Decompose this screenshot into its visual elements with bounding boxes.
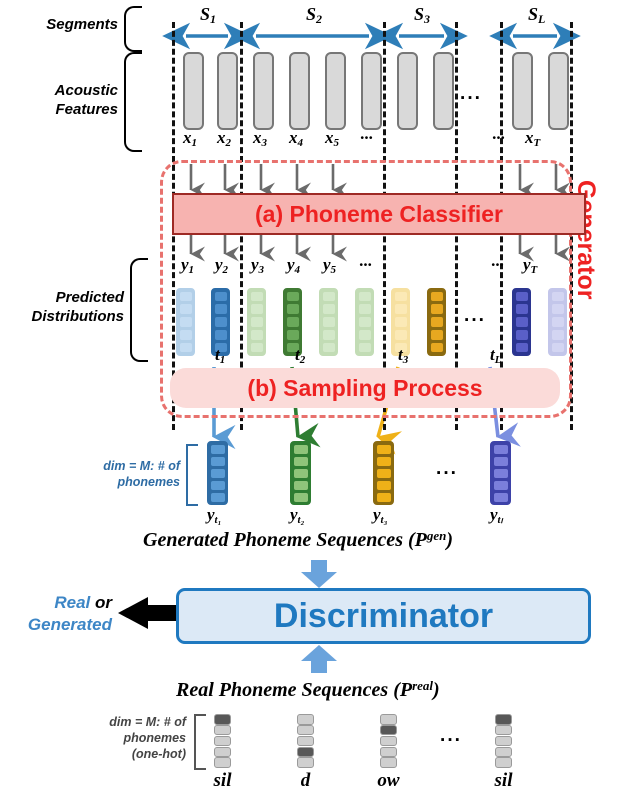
acoustic-feature-bar-8 <box>433 52 454 130</box>
dist-9-cell-1 <box>515 291 529 303</box>
acoustic-ellipsis: ··· <box>460 88 482 110</box>
dist-8-cell-2 <box>430 303 444 315</box>
acoustic-label-3-math: x3 <box>253 128 267 147</box>
generated-caption-end: ) <box>446 529 453 551</box>
acoustic-label-5-math: x5 <box>325 128 339 147</box>
acoustic-features-brace <box>124 52 142 152</box>
acoustic-label-6: ··· <box>360 128 373 148</box>
dist-6-cell-2 <box>358 303 372 315</box>
discriminator-output-arrow <box>118 597 176 629</box>
real-phoneme-label-2: d <box>279 770 332 792</box>
sampled-1-cell-3 <box>210 468 226 479</box>
real-onehot-2-cell-2 <box>297 725 313 735</box>
segments-brace <box>124 6 142 52</box>
acoustic-label-7: ··· <box>492 128 505 148</box>
real-onehot-3-cell-5 <box>380 757 396 767</box>
sampled-1-cell-4 <box>210 480 226 491</box>
gen-to-discriminator-arrow <box>301 560 337 588</box>
real-dim-line2: phonemes <box>40 730 186 746</box>
generated-phoneme-label-3: yt₃ <box>373 505 387 526</box>
dist-10-cell-3 <box>551 316 565 328</box>
t-label-4-math: tL <box>490 345 501 364</box>
dist-5-cell-5 <box>322 342 336 354</box>
generated-word: Generated <box>0 614 112 636</box>
dist-3 <box>247 288 266 356</box>
segment-label-2: S2 <box>306 4 322 27</box>
dist-10-cell-2 <box>551 303 565 315</box>
y-label-5: y5 <box>323 255 336 276</box>
dist-9-cell-5 <box>515 342 529 354</box>
acoustic-label-8-math: xT <box>525 128 540 147</box>
sampled-3-cell-5 <box>376 492 392 503</box>
sampled-2-cell-1 <box>293 444 309 455</box>
sampled-2-cell-3 <box>293 468 309 479</box>
acoustic-label-4-math-subscript: 4 <box>298 137 304 149</box>
generated-phoneme-label-2-math-subscript: t₂ <box>298 514 305 526</box>
y-label-4-math-subscript: 4 <box>295 264 301 276</box>
sampling-process-box[interactable]: (b) Sampling Process <box>170 368 560 408</box>
acoustic-label-1-math: x1 <box>183 128 197 147</box>
generated-phoneme-label-3-math: yt₃ <box>373 505 387 524</box>
dist-3-cell-3 <box>250 316 264 328</box>
sampled-1-cell-2 <box>210 456 226 467</box>
generated-phoneme-label-1-math-subscript: t₁ <box>215 514 222 526</box>
sampled-4-cell-4 <box>493 480 509 491</box>
generated-phoneme-label-4-math-subscript: tₗ <box>498 514 503 526</box>
dist-4-cell-3 <box>286 316 300 328</box>
y-label-8-math-subscript: T <box>531 264 538 276</box>
real-ellipsis: ··· <box>440 730 462 752</box>
segment-label-3-subscript: 3 <box>424 12 430 26</box>
dist-8-cell-5 <box>430 342 444 354</box>
sampled-1-cell-1 <box>210 444 226 455</box>
sampled-3-cell-2 <box>376 456 392 467</box>
real-onehot-3-cell-3 <box>380 736 396 746</box>
sampled-2-cell-4 <box>293 480 309 491</box>
real-caption-sup: real <box>412 678 433 693</box>
y-label-1-math-subscript: 1 <box>189 264 195 276</box>
generated-phoneme-label-4-math: ytₗ <box>490 505 502 524</box>
dist-7-cell-1 <box>394 291 408 303</box>
generated-phoneme-label-1-math: yt₁ <box>207 505 221 524</box>
acoustic-label-3: x3 <box>253 128 267 149</box>
acoustic-feature-bar-2 <box>217 52 238 130</box>
acoustic-feature-bar-5 <box>325 52 346 130</box>
dist-4-cell-1 <box>286 291 300 303</box>
generated-phoneme-label-3-math-subscript: t₃ <box>381 514 388 526</box>
y-label-5-math-subscript: 5 <box>331 264 337 276</box>
predicted-distributions-brace <box>130 258 148 362</box>
real-phoneme-label-3: ow <box>362 770 415 792</box>
t-label-2-math: t2 <box>295 345 305 364</box>
dist-2-cell-4 <box>214 329 228 341</box>
y-label-5-math: y5 <box>323 255 336 274</box>
y-label-1-math: y1 <box>181 255 194 274</box>
real-dim-line1: dim = M: # of <box>40 714 186 730</box>
acoustic-label-8: xT <box>525 128 540 149</box>
generated-phoneme-label-2: yt₂ <box>290 505 304 526</box>
acoustic-label-4-math: x4 <box>289 128 303 147</box>
dist-10-cell-4 <box>551 329 565 341</box>
real-dim-bracket <box>194 714 206 770</box>
y-label-3-math-subscript: 3 <box>259 264 265 276</box>
dist-1 <box>176 288 195 356</box>
acoustic-feature-bar-9 <box>512 52 533 130</box>
y-label-4-math: y4 <box>287 255 300 274</box>
dist-5-cell-3 <box>322 316 336 328</box>
y-label-4: y4 <box>287 255 300 276</box>
generated-phoneme-label-1: yt₁ <box>207 505 221 526</box>
acoustic-feature-bar-1 <box>183 52 204 130</box>
dist-6-cell-3 <box>358 316 372 328</box>
predicted-distributions-label: Predicted Distributions <box>0 288 124 326</box>
real-or-line1: Real or <box>0 592 112 614</box>
dist-4-cell-2 <box>286 303 300 315</box>
dist-9 <box>512 288 531 356</box>
dist-5-cell-2 <box>322 303 336 315</box>
real-onehot-3-cell-2 <box>380 725 396 735</box>
acoustic-label-6-math: ··· <box>360 128 373 147</box>
segment-label-1-subscript: 1 <box>210 12 216 26</box>
sampled-4-cell-5 <box>493 492 509 503</box>
dist-3-cell-1 <box>250 291 264 303</box>
real-onehot-2-cell-1 <box>297 714 313 724</box>
t-label-3-math-subscript: 3 <box>403 354 409 366</box>
segment-label-4-subscript: L <box>538 12 545 26</box>
sampled-1-cell-5 <box>210 492 226 503</box>
real-phoneme-label-1: sil <box>196 770 249 792</box>
generated-phoneme-label-2-math: yt₂ <box>290 505 304 524</box>
dist-2-cell-3 <box>214 316 228 328</box>
acoustic-features-line2: Features <box>0 100 118 119</box>
t-label-3-math: t3 <box>398 345 408 364</box>
real-onehot-1-cell-4 <box>214 747 230 757</box>
real-onehot-1-cell-2 <box>214 725 230 735</box>
real-onehot-2-cell-4 <box>297 747 313 757</box>
dist-1-cell-3 <box>179 316 193 328</box>
dist-10 <box>548 288 567 356</box>
real-onehot-3 <box>380 714 397 768</box>
sampled-ellipsis: ··· <box>436 463 458 485</box>
dist-9-cell-3 <box>515 316 529 328</box>
sampled-4-cell-2 <box>493 456 509 467</box>
dist-8-cell-1 <box>430 291 444 303</box>
distribution-ellipsis: ··· <box>464 310 486 332</box>
t-label-2-math-subscript: 2 <box>300 354 306 366</box>
dist-7-cell-2 <box>394 303 408 315</box>
real-onehot-1 <box>214 714 231 768</box>
real-onehot-4 <box>495 714 512 768</box>
real-dim-label: dim = M: # of phonemes (one-hot) <box>40 714 186 762</box>
dist-5-cell-4 <box>322 329 336 341</box>
acoustic-label-3-math-subscript: 3 <box>262 137 268 149</box>
dist-1-cell-2 <box>179 303 193 315</box>
real-onehot-1-cell-3 <box>214 736 230 746</box>
dist-1-cell-5 <box>179 342 193 354</box>
acoustic-features-label: Acoustic Features <box>0 81 118 119</box>
segments-label: Segments <box>0 15 118 34</box>
or-word: or <box>95 593 112 612</box>
predicted-line2: Distributions <box>0 307 124 326</box>
dist-2-cell-1 <box>214 291 228 303</box>
generated-phoneme-label-4: ytₗ <box>490 505 502 526</box>
y-label-2-math: y2 <box>215 255 228 274</box>
sampled-2-cell-2 <box>293 456 309 467</box>
discriminator-box[interactable]: Discriminator <box>176 588 591 644</box>
real-or-generated-label: Real or Generated <box>0 592 112 636</box>
dist-3-cell-5 <box>250 342 264 354</box>
t-label-1: t1 <box>215 345 225 366</box>
real-caption-end: ) <box>433 679 440 701</box>
real-word: Real <box>54 593 90 612</box>
dist-10-cell-1 <box>551 291 565 303</box>
real-onehot-4-cell-5 <box>495 757 511 767</box>
real-phoneme-label-4: sil <box>477 770 530 792</box>
y-label-6: ··· <box>359 255 372 275</box>
dist-6-cell-4 <box>358 329 372 341</box>
real-onehot-4-cell-1 <box>495 714 511 724</box>
dist-6 <box>355 288 374 356</box>
acoustic-feature-bar-10 <box>548 52 569 130</box>
acoustic-feature-bar-4 <box>289 52 310 130</box>
y-label-7: ··· <box>491 255 504 275</box>
y-label-3-math: y3 <box>251 255 264 274</box>
generated-sequences-caption: Generated Phoneme Sequences (Pgen) <box>143 528 453 552</box>
real-onehot-1-cell-5 <box>214 757 230 767</box>
dist-9-cell-2 <box>515 303 529 315</box>
y-label-1: y1 <box>181 255 194 276</box>
segment-label-2-subscript: 2 <box>316 12 322 26</box>
generated-dim-line1: dim = M: # of <box>40 458 180 474</box>
t-label-2: t2 <box>295 345 305 366</box>
y-label-6-math: ··· <box>359 255 372 274</box>
t-label-1-math-subscript: 1 <box>220 354 226 366</box>
sampled-2 <box>290 441 311 505</box>
acoustic-features-line1: Acoustic <box>0 81 118 100</box>
dist-5-cell-1 <box>322 291 336 303</box>
generated-caption-text: Generated Phoneme Sequences (P <box>143 529 427 551</box>
y-label-2-math-subscript: 2 <box>223 264 229 276</box>
sampled-2-cell-5 <box>293 492 309 503</box>
y-label-8: yT <box>523 255 537 276</box>
dist-5 <box>319 288 338 356</box>
y-label-7-math: ··· <box>491 255 504 274</box>
real-onehot-1-cell-1 <box>214 714 230 724</box>
sampled-4-cell-3 <box>493 468 509 479</box>
dist-7-cell-3 <box>394 316 408 328</box>
real-dim-line3: (one-hot) <box>40 746 186 762</box>
sampled-3-cell-4 <box>376 480 392 491</box>
segment-label-3: S3 <box>414 4 430 27</box>
dist-4-cell-4 <box>286 329 300 341</box>
dist-10-cell-5 <box>551 342 565 354</box>
sampled-4-cell-1 <box>493 444 509 455</box>
acoustic-label-1-math-subscript: 1 <box>192 137 198 149</box>
real-to-discriminator-arrow <box>301 645 337 673</box>
acoustic-label-2-math: x2 <box>217 128 231 147</box>
dist-3-cell-4 <box>250 329 264 341</box>
real-onehot-3-cell-1 <box>380 714 396 724</box>
dist-1-cell-4 <box>179 329 193 341</box>
sampled-1 <box>207 441 228 505</box>
real-onehot-4-cell-3 <box>495 736 511 746</box>
dist-2-cell-2 <box>214 303 228 315</box>
acoustic-feature-bar-3 <box>253 52 274 130</box>
dist-7-cell-4 <box>394 329 408 341</box>
sampled-3-cell-3 <box>376 468 392 479</box>
y-label-3: y3 <box>251 255 264 276</box>
real-onehot-4-cell-4 <box>495 747 511 757</box>
real-onehot-2-cell-3 <box>297 736 313 746</box>
acoustic-label-8-math-subscript: T <box>534 137 541 149</box>
real-sequences-caption: Real Phoneme Sequences (Preal) <box>176 678 440 702</box>
t-label-1-math: t1 <box>215 345 225 364</box>
diagram-canvas: Segments Acoustic Features Predicted Dis… <box>0 0 636 798</box>
dist-9-cell-4 <box>515 329 529 341</box>
sampled-3 <box>373 441 394 505</box>
acoustic-feature-bar-6 <box>361 52 382 130</box>
real-onehot-2-cell-5 <box>297 757 313 767</box>
real-onehot-3-cell-4 <box>380 747 396 757</box>
t-label-4: tL <box>490 345 501 366</box>
acoustic-label-2: x2 <box>217 128 231 149</box>
generated-caption-sup: gen <box>427 528 447 543</box>
generated-dim-bracket <box>186 444 198 506</box>
sampled-4 <box>490 441 511 505</box>
dist-3-cell-2 <box>250 303 264 315</box>
segment-label-4: SL <box>528 4 545 27</box>
dist-1-cell-1 <box>179 291 193 303</box>
real-onehot-2 <box>297 714 314 768</box>
dist-8-cell-3 <box>430 316 444 328</box>
y-label-2: y2 <box>215 255 228 276</box>
acoustic-feature-bar-7 <box>397 52 418 130</box>
predicted-line1: Predicted <box>0 288 124 307</box>
generated-dim-label: dim = M: # of phonemes <box>40 458 180 490</box>
t-label-4-math-subscript: L <box>495 354 502 366</box>
y-label-8-math: yT <box>523 255 537 274</box>
dist-8-cell-4 <box>430 329 444 341</box>
acoustic-label-4: x4 <box>289 128 303 149</box>
acoustic-label-7-math: ··· <box>492 128 505 147</box>
segment-label-1: S1 <box>200 4 216 27</box>
dist-6-cell-1 <box>358 291 372 303</box>
dist-6-cell-5 <box>358 342 372 354</box>
generated-dim-line2: phonemes <box>40 474 180 490</box>
sampled-3-cell-1 <box>376 444 392 455</box>
acoustic-label-5: x5 <box>325 128 339 149</box>
acoustic-label-2-math-subscript: 2 <box>226 137 232 149</box>
acoustic-label-5-math-subscript: 5 <box>334 137 340 149</box>
dist-8 <box>427 288 446 356</box>
t-label-3: t3 <box>398 345 408 366</box>
real-onehot-4-cell-2 <box>495 725 511 735</box>
acoustic-label-1: x1 <box>183 128 197 149</box>
real-caption-text: Real Phoneme Sequences (P <box>176 679 412 701</box>
phoneme-classifier-box[interactable]: (a) Phoneme Classifier <box>172 193 586 235</box>
